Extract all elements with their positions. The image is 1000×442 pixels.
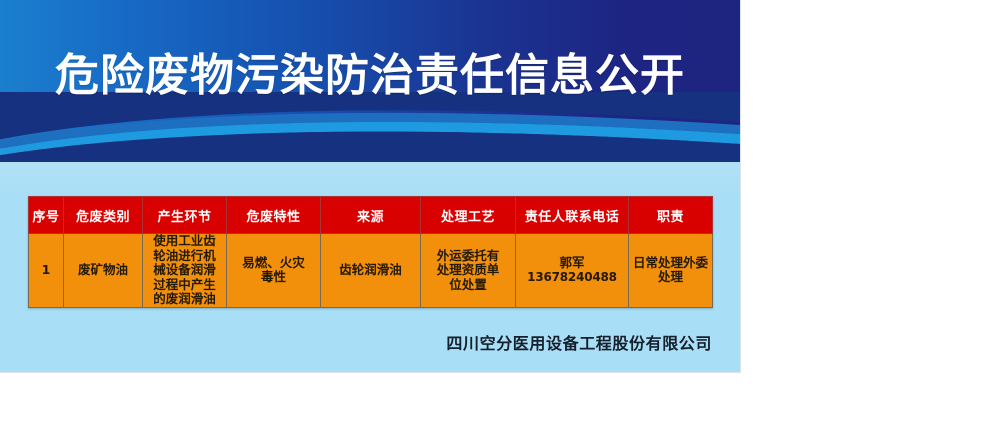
cell-process-text: 外运委托有处理资质单位处置 xyxy=(431,249,505,293)
column-header-source: 来源 xyxy=(321,197,421,234)
cell-stage: 使用工业齿轮油进行机械设备润滑过程中产生的废润滑油 xyxy=(143,234,227,308)
table-header: 序号 危废类别 产生环节 危废特性 来源 处理工艺 责任人联系电话 职责 xyxy=(29,197,713,234)
cell-process: 外运委托有处理资质单位处置 xyxy=(421,234,516,308)
cell-category: 废矿物油 xyxy=(64,234,143,308)
contact-name: 郭军 xyxy=(559,255,584,270)
cell-contact: 郭军 13678240488 xyxy=(516,234,629,308)
cell-duty: 日常处理外委处理 xyxy=(629,234,713,308)
contact-phone: 13678240488 xyxy=(518,270,626,285)
column-header-contact: 责任人联系电话 xyxy=(516,197,629,234)
table-header-row: 序号 危废类别 产生环节 危废特性 来源 处理工艺 责任人联系电话 职责 xyxy=(29,197,713,234)
page-title: 危险废物污染防治责任信息公开 xyxy=(0,47,740,105)
table-row: 1 废矿物油 使用工业齿轮油进行机械设备润滑过程中产生的废润滑油 易燃、火灾毒性… xyxy=(29,234,713,308)
column-header-category: 危废类别 xyxy=(64,197,143,234)
poster-canvas: 危险废物污染防治责任信息公开 序号 危废类别 产生环节 危废特性 来源 处理工艺… xyxy=(0,0,740,372)
cell-characteristic-text: 易燃、火灾毒性 xyxy=(237,256,311,285)
table-body: 1 废矿物油 使用工业齿轮油进行机械设备润滑过程中产生的废润滑油 易燃、火灾毒性… xyxy=(29,234,713,308)
company-name: 四川空分医用设备工程股份有限公司 xyxy=(0,330,712,354)
hazardous-waste-table: 序号 危废类别 产生环节 危废特性 来源 处理工艺 责任人联系电话 职责 1 废… xyxy=(28,196,713,308)
column-header-stage: 产生环节 xyxy=(143,197,227,234)
cell-stage-text: 使用工业齿轮油进行机械设备润滑过程中产生的废润滑油 xyxy=(153,234,217,307)
column-header-seq: 序号 xyxy=(29,197,64,234)
column-header-characteristic: 危废特性 xyxy=(227,197,321,234)
column-header-duty: 职责 xyxy=(629,197,713,234)
column-header-process: 处理工艺 xyxy=(421,197,516,234)
cell-seq: 1 xyxy=(29,234,64,308)
cell-characteristic: 易燃、火灾毒性 xyxy=(227,234,321,308)
cell-source: 齿轮润滑油 xyxy=(321,234,421,308)
poster-root: 危险废物污染防治责任信息公开 序号 危废类别 产生环节 危废特性 来源 处理工艺… xyxy=(0,0,1000,442)
